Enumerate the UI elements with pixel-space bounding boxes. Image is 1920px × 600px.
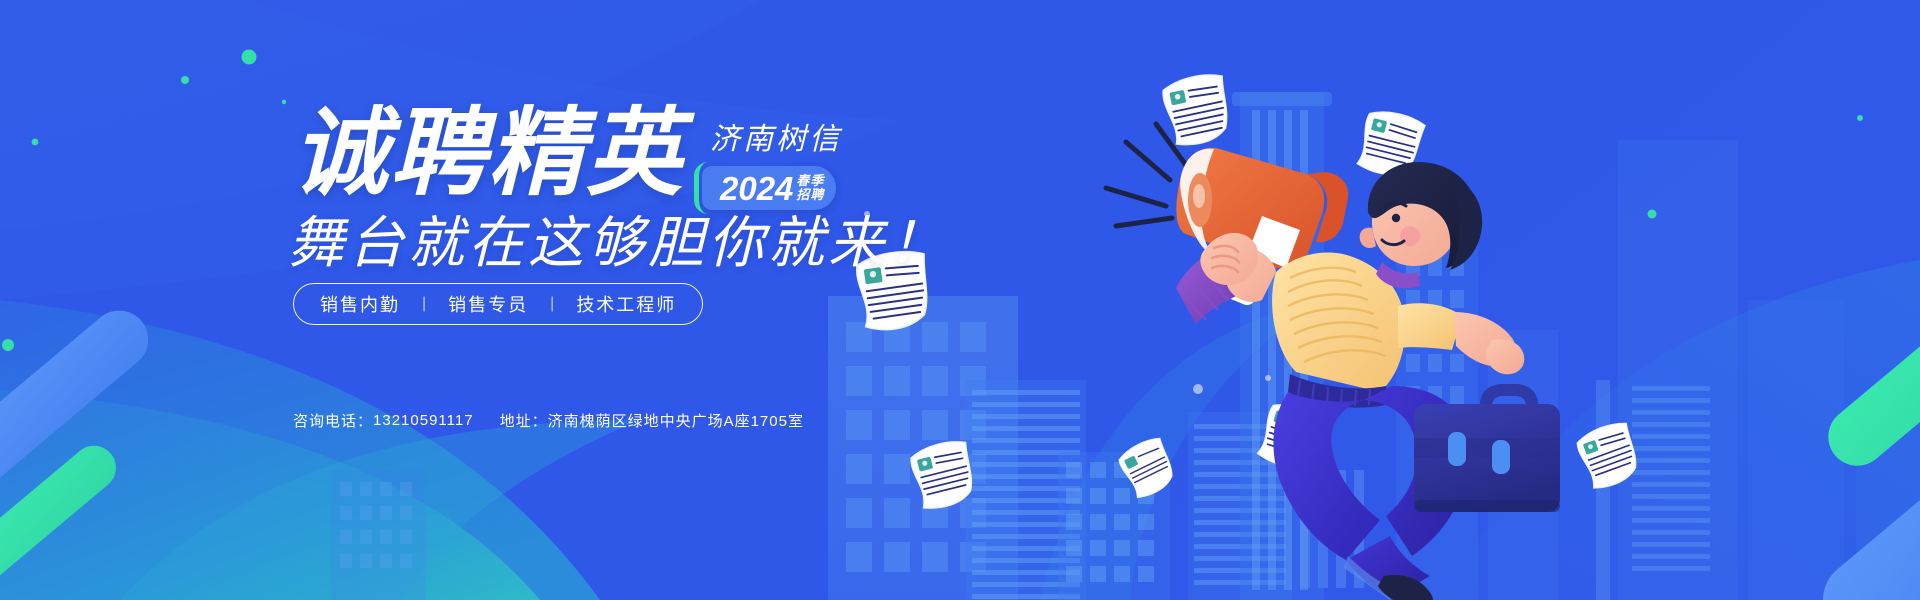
position-item-2[interactable]: 销售专员 xyxy=(448,291,528,317)
text-content: 诚聘精英 济南树信 2024 春季 招聘 舞台就在这够胆你就来！ 销售内勤 | … xyxy=(0,0,1100,600)
headline-row: 诚聘精英 济南树信 2024 春季 招聘 xyxy=(292,104,842,210)
contact-line: 咨询电话： 13210591117 地址： 济南槐荫区绿地中央广场A座1705室 xyxy=(293,410,804,431)
position-item-1[interactable]: 销售内勤 xyxy=(320,291,400,317)
positions-pill: 销售内勤 | 销售专员 | 技术工程师 xyxy=(293,283,703,325)
phone-value[interactable]: 13210591117 xyxy=(373,412,474,429)
brand-block: 济南树信 2024 春季 招聘 xyxy=(700,114,842,210)
position-separator-1: | xyxy=(422,295,426,313)
megaphone-sound-lines xyxy=(1106,124,1188,226)
recruitment-banner: 诚聘精英 济南树信 2024 春季 招聘 舞台就在这够胆你就来！ 销售内勤 | … xyxy=(0,0,1920,600)
address-value: 济南槐荫区绿地中央广场A座1705室 xyxy=(548,410,804,431)
address-label: 地址： xyxy=(500,410,548,431)
position-separator-2: | xyxy=(550,295,554,313)
company-name: 济南树信 xyxy=(700,114,842,158)
position-item-3[interactable]: 技术工程师 xyxy=(576,291,676,317)
page-title: 诚聘精英 xyxy=(292,104,684,205)
badge-season: 春季 xyxy=(796,174,824,188)
subheadline: 舞台就在这够胆你就来！ xyxy=(288,198,948,279)
phone-label: 咨询电话： xyxy=(293,410,373,431)
